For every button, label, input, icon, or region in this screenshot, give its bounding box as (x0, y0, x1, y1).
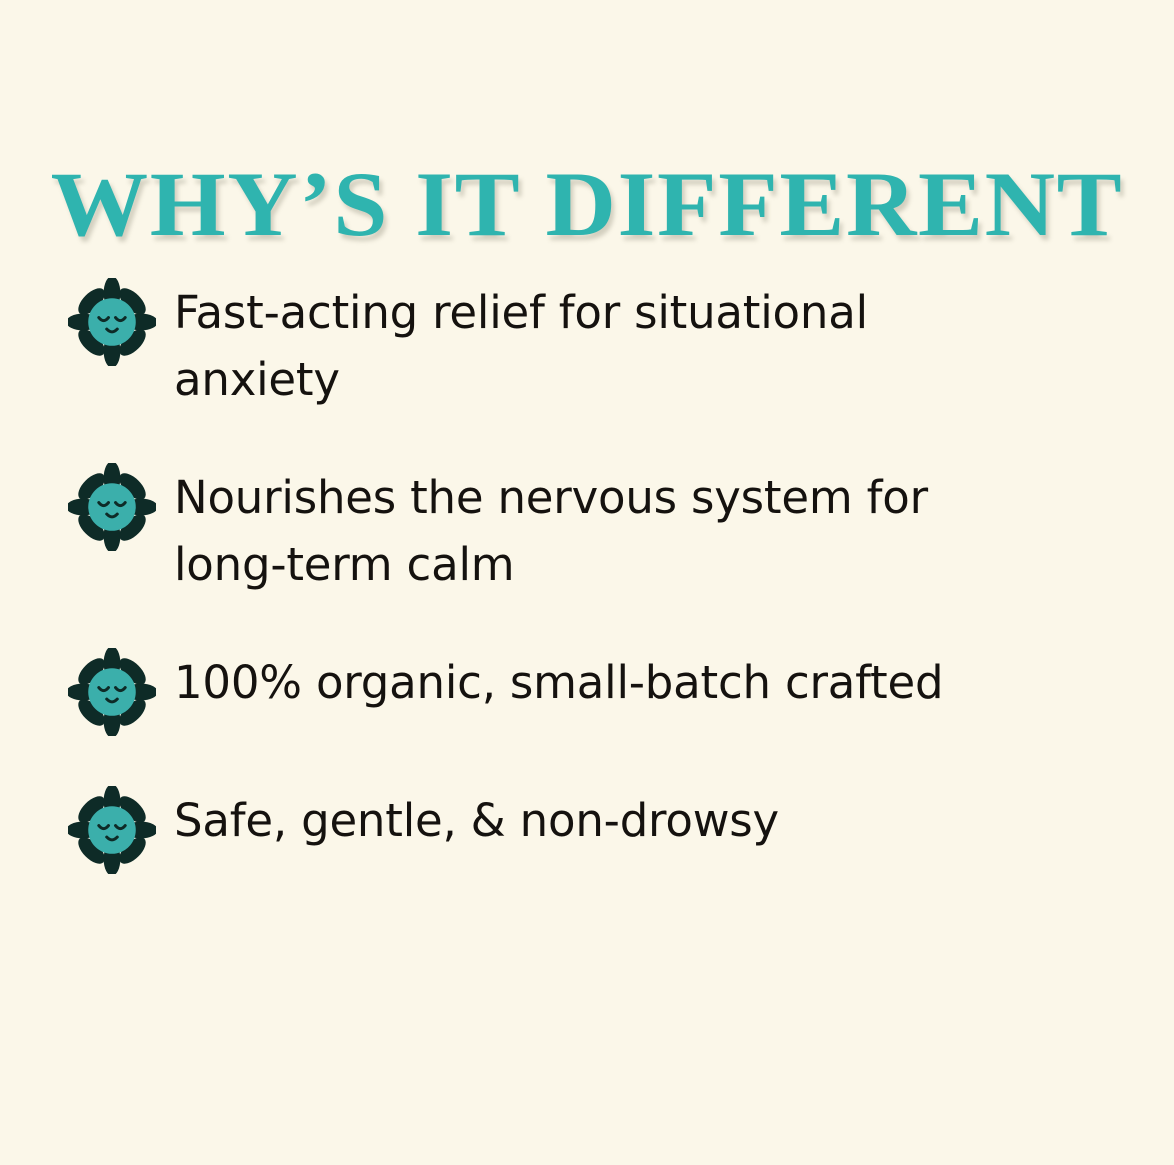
list-item: 100% organic, small-batch crafted (68, 646, 1088, 736)
list-item: Nourishes the nervous system for long-te… (68, 461, 1088, 598)
why-its-different-panel: WHY’S IT DIFFERENT (0, 0, 1174, 1165)
list-item-label: Safe, gentle, & non-drowsy (174, 784, 779, 854)
list-item-label: Fast-acting relief for situational anxie… (174, 276, 964, 413)
page-title: WHY’S IT DIFFERENT (0, 154, 1174, 254)
sleeping-flower-icon (68, 648, 156, 736)
sleeping-flower-icon (68, 463, 156, 551)
benefits-list: Fast-acting relief for situational anxie… (68, 276, 1088, 874)
list-item: Safe, gentle, & non-drowsy (68, 784, 1088, 874)
sleeping-flower-icon (68, 278, 156, 366)
sleeping-flower-icon (68, 786, 156, 874)
list-item: Fast-acting relief for situational anxie… (68, 276, 1088, 413)
list-item-label: Nourishes the nervous system for long-te… (174, 461, 964, 598)
list-item-label: 100% organic, small-batch crafted (174, 646, 943, 716)
